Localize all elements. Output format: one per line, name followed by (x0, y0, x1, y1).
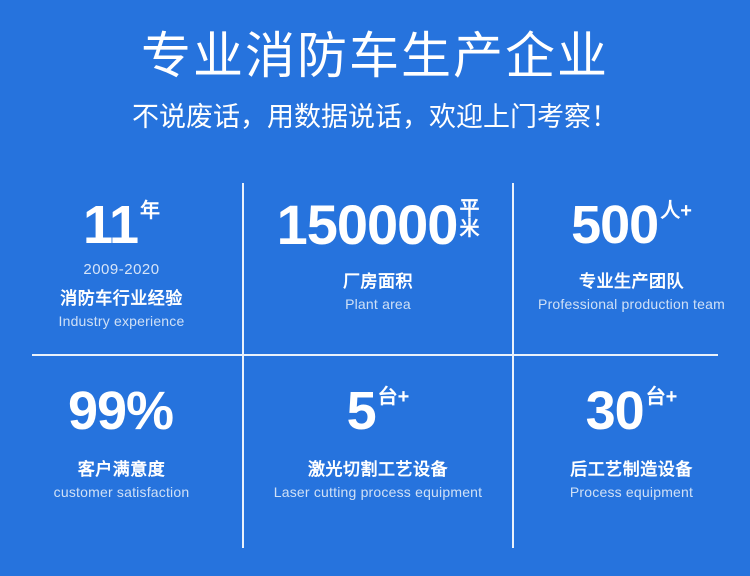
stat-unit-top: 平 (459, 199, 479, 219)
stat-number: 30 (586, 383, 644, 439)
promo-poster: 专业消防车生产企业 不说废话，用数据说话，欢迎上门考察！ 11 年 2009-2… (0, 0, 750, 576)
stat-year-range: 2009-2020 (83, 261, 159, 278)
stat-cell-customer-satisfaction: 99% 客户满意度 customer satisfaction (0, 355, 243, 548)
stat-unit: 人+ (660, 197, 692, 222)
stat-label-en: customer satisfaction (54, 484, 190, 500)
stat-cell-plant-area: 150000 平 米 厂房面积 Plant area (243, 183, 513, 355)
stat-number: 5 (347, 383, 376, 439)
stat-number: 11 (83, 197, 138, 253)
stat-label-cn: 专业生产团队 (579, 267, 684, 292)
stat-number-row: 5 台+ (347, 383, 410, 439)
stat-unit-bottom: 米 (459, 219, 479, 239)
stat-number: 500 (571, 197, 658, 253)
poster-header: 专业消防车生产企业 不说废话，用数据说话，欢迎上门考察！ (0, 0, 750, 134)
stat-label-en: Industry experience (59, 313, 185, 329)
stat-label-cn: 客户满意度 (78, 455, 166, 480)
stats-grid: 11 年 2009-2020 消防车行业经验 Industry experien… (0, 183, 750, 548)
page-title: 专业消防车生产企业 (0, 26, 750, 86)
stat-number: 99% (68, 383, 173, 439)
stat-label-cn: 后工艺制造设备 (570, 455, 693, 480)
stat-number-row: 11 年 (83, 197, 160, 253)
stat-number-row: 500 人+ (571, 197, 692, 253)
stat-unit: 台+ (646, 383, 678, 408)
stat-number-row: 30 台+ (586, 383, 678, 439)
stat-unit: 年 (140, 197, 160, 222)
stat-label-en: Process equipment (570, 484, 693, 500)
stat-cell-industry-experience: 11 年 2009-2020 消防车行业经验 Industry experien… (0, 183, 243, 355)
stat-cell-laser-cutting-equipment: 5 台+ 激光切割工艺设备 Laser cutting process equi… (243, 355, 513, 548)
stat-cell-production-team: 500 人+ 专业生产团队 Professional production te… (513, 183, 750, 355)
stat-number: 150000 (277, 197, 458, 253)
stat-label-cn: 厂房面积 (343, 267, 413, 292)
stat-unit: 台+ (378, 383, 410, 408)
stat-label-en: Plant area (345, 296, 411, 312)
stat-number-row: 99% (68, 383, 175, 439)
page-subtitle: 不说废话，用数据说话，欢迎上门考察！ (0, 100, 750, 134)
stat-label-cn: 激光切割工艺设备 (308, 455, 448, 480)
stat-cell-process-equipment: 30 台+ 后工艺制造设备 Process equipment (513, 355, 750, 548)
stat-label-cn: 消防车行业经验 (60, 284, 183, 309)
stat-number-row: 150000 平 米 (277, 197, 480, 253)
stat-label-en: Professional production team (538, 296, 725, 312)
stat-unit: 平 米 (459, 197, 479, 239)
stat-label-en: Laser cutting process equipment (274, 484, 483, 500)
